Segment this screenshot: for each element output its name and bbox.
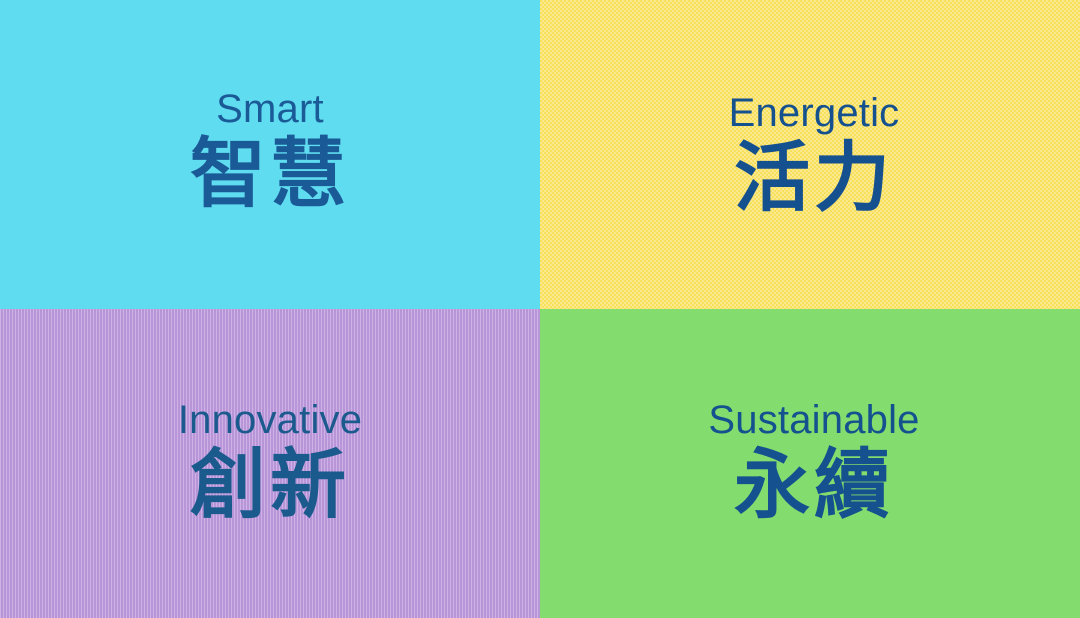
label-zh-sustainable: 永續 xyxy=(734,448,894,524)
label-en-sustainable: Sustainable xyxy=(708,400,919,440)
quadrant-innovative[interactable]: Innovative 創新 xyxy=(0,309,540,618)
label-zh-smart: 智慧 xyxy=(190,137,350,213)
label-block-innovative: Innovative 創新 xyxy=(178,400,362,524)
label-en-energetic: Energetic xyxy=(729,93,900,133)
quadrant-energetic[interactable]: Energetic 活力 xyxy=(540,0,1080,309)
label-zh-energetic: 活力 xyxy=(734,141,894,217)
label-block-energetic: Energetic 活力 xyxy=(729,93,900,217)
quadrant-grid: Smart 智慧 Energetic 活力 Innovative 創新 Sust… xyxy=(0,0,1080,618)
brand-values-canvas: Smart 智慧 Energetic 活力 Innovative 創新 Sust… xyxy=(0,0,1080,618)
label-block-smart: Smart 智慧 xyxy=(190,89,350,213)
label-en-innovative: Innovative xyxy=(178,400,362,440)
quadrant-smart[interactable]: Smart 智慧 xyxy=(0,0,540,309)
label-en-smart: Smart xyxy=(216,89,324,129)
label-zh-innovative: 創新 xyxy=(190,448,350,524)
quadrant-sustainable[interactable]: Sustainable 永續 xyxy=(540,309,1080,618)
label-block-sustainable: Sustainable 永續 xyxy=(708,400,919,524)
